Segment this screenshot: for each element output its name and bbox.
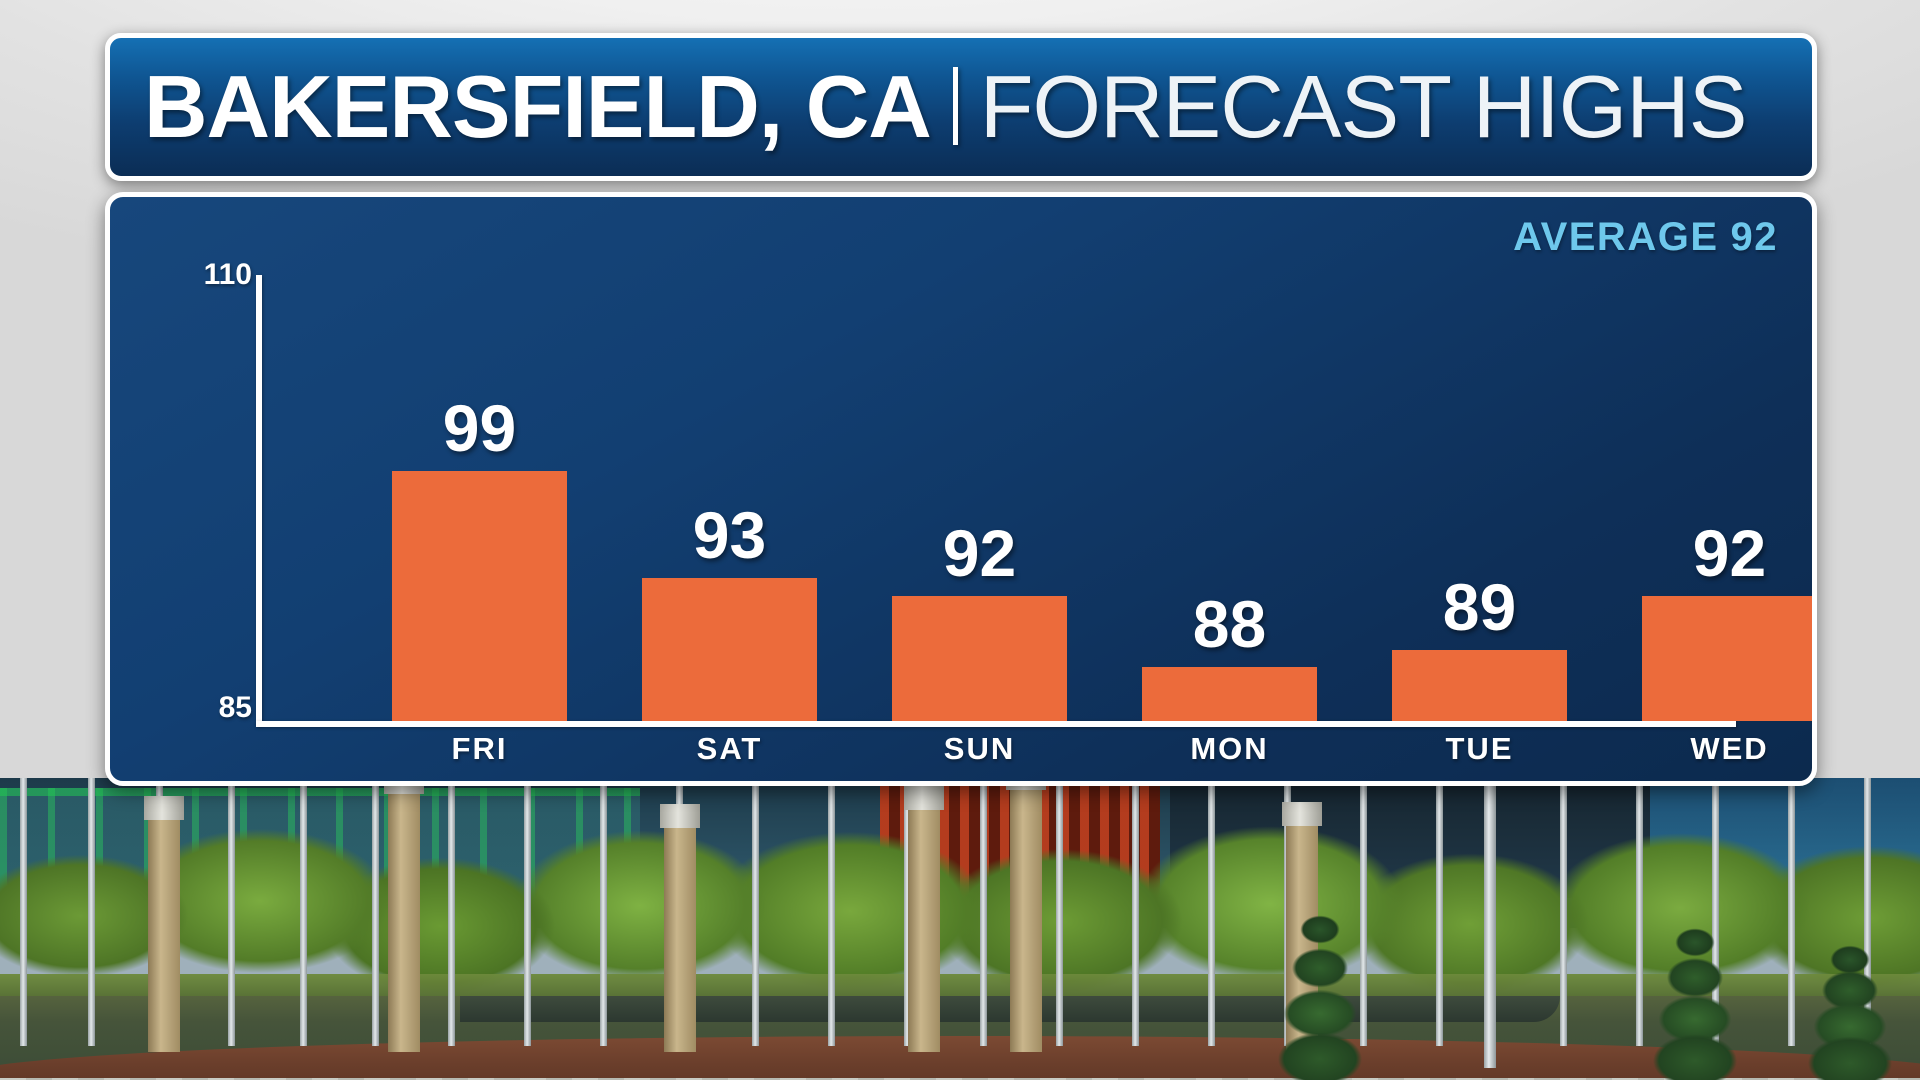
day-label-fri: FRI: [392, 731, 567, 767]
bar-column: 88: [1142, 275, 1317, 721]
y-axis-tick-max: 110: [204, 258, 252, 292]
title-line: BAKERSFIELD, CA FORECAST HIGHS: [144, 56, 1747, 158]
stone-column: [148, 816, 180, 1052]
park-scene: [0, 778, 1920, 1080]
bar-column: 99: [392, 275, 567, 721]
bar-value-label: 99: [392, 395, 567, 461]
stone-column: [664, 824, 696, 1052]
conifer-tree: [1790, 940, 1910, 1080]
x-axis-line: [256, 721, 1736, 727]
bar-value-label: 92: [892, 520, 1067, 586]
stone-column: [388, 790, 420, 1052]
bar-group: 999392888992: [262, 275, 1742, 721]
bar-rect: [642, 578, 817, 721]
bar-column: 89: [1392, 275, 1567, 721]
day-label-mon: MON: [1142, 731, 1317, 767]
lamp-post: [1484, 778, 1496, 1068]
forecast-chart-panel: AVERAGE92 110 85 999392888992 FRISATSUNM…: [105, 192, 1817, 786]
bar-value-label: 93: [642, 502, 817, 568]
bar-column: 93: [642, 275, 817, 721]
conifer-tree: [1250, 905, 1390, 1080]
day-label-wed: WED: [1642, 731, 1817, 767]
title-bar: BAKERSFIELD, CA FORECAST HIGHS: [105, 33, 1817, 181]
bar-value-label: 88: [1142, 591, 1317, 657]
bar-chart-plot: 110 85 999392888992 FRISATSUNMONTUEWED: [110, 197, 1812, 781]
x-axis-labels: FRISATSUNMONTUEWED: [262, 731, 1742, 783]
conifer-tree: [1630, 920, 1760, 1080]
bar-rect: [1392, 650, 1567, 721]
bar-rect: [892, 596, 1067, 721]
bar-column: 92: [1642, 275, 1817, 721]
bar-rect: [1642, 596, 1817, 721]
page-title-city: BAKERSFIELD, CA: [144, 56, 931, 158]
day-label-sun: SUN: [892, 731, 1067, 767]
bar-column: 92: [892, 275, 1067, 721]
page-title-subtitle: FORECAST HIGHS: [980, 56, 1747, 158]
title-divider: [953, 67, 958, 145]
day-label-tue: TUE: [1392, 731, 1567, 767]
day-label-sat: SAT: [642, 731, 817, 767]
bar-rect: [392, 471, 567, 721]
pole-array: [0, 778, 1920, 1080]
stone-column: [908, 806, 940, 1052]
stone-column: [1010, 786, 1042, 1052]
bar-value-label: 92: [1642, 520, 1817, 586]
y-axis-tick-min: 85: [219, 691, 252, 725]
bar-value-label: 89: [1392, 574, 1567, 640]
bar-rect: [1142, 667, 1317, 721]
